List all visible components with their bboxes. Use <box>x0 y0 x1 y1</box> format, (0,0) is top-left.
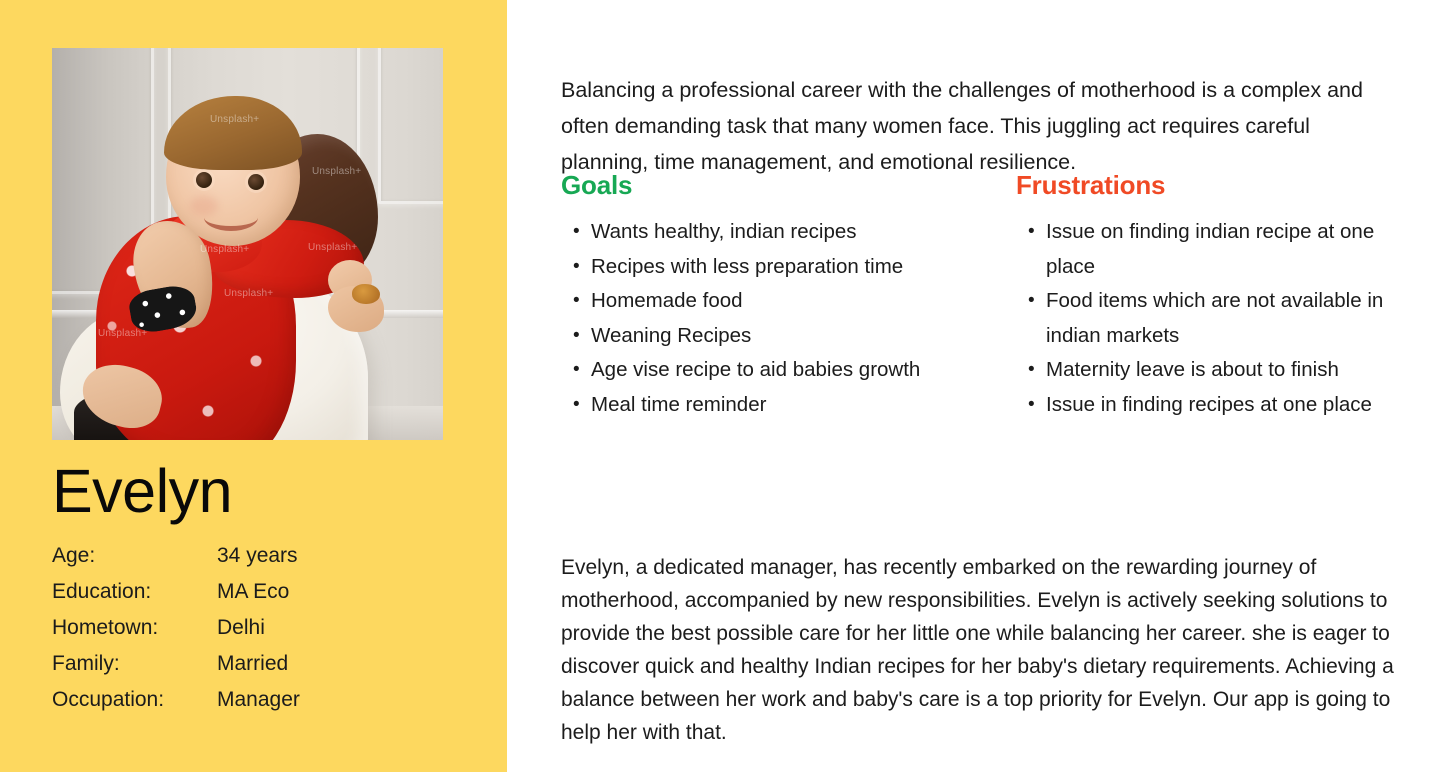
list-item: Weaning Recipes <box>591 319 1016 354</box>
list-item: Age vise recipe to aid babies growth <box>591 353 1016 388</box>
goals-section: Goals Wants healthy, indian recipes Reci… <box>561 170 1016 422</box>
detail-label-education: Education: <box>52 580 217 604</box>
detail-value-hometown: Delhi <box>217 616 265 640</box>
persona-card: Unsplash+ Unsplash+ Unsplash+ Unsplash+ … <box>0 0 1440 776</box>
detail-row: Occupation: Manager <box>52 688 452 724</box>
list-item: Issue on finding indian recipe at one pl… <box>1046 215 1411 284</box>
frustrations-heading: Frustrations <box>1016 170 1411 201</box>
detail-label-hometown: Hometown: <box>52 616 217 640</box>
detail-value-age: 34 years <box>217 544 298 568</box>
goals-frustrations-columns: Goals Wants healthy, indian recipes Reci… <box>561 170 1411 422</box>
detail-label-age: Age: <box>52 544 217 568</box>
baby-eye <box>248 174 264 190</box>
detail-row: Family: Married <box>52 652 452 688</box>
list-item: Wants healthy, indian recipes <box>591 215 1016 250</box>
wall-moulding-panel <box>378 48 443 204</box>
list-item: Issue in finding recipes at one place <box>1046 388 1411 423</box>
baby-eye <box>196 172 212 188</box>
list-item: Maternity leave is about to finish <box>1046 353 1411 388</box>
detail-row: Hometown: Delhi <box>52 616 452 652</box>
bio-paragraph: Evelyn, a dedicated manager, has recentl… <box>561 551 1399 749</box>
cookie <box>352 284 380 304</box>
list-item: Meal time reminder <box>591 388 1016 423</box>
detail-value-education: MA Eco <box>217 580 289 604</box>
profile-details-list: Age: 34 years Education: MA Eco Hometown… <box>52 544 452 724</box>
list-item: Recipes with less preparation time <box>591 250 1016 285</box>
baby-smile <box>204 204 258 231</box>
intro-paragraph: Balancing a professional career with the… <box>561 72 1399 180</box>
list-item: Homemade food <box>591 284 1016 319</box>
goals-list: Wants healthy, indian recipes Recipes wi… <box>561 215 1016 422</box>
detail-row: Education: MA Eco <box>52 580 452 616</box>
detail-label-family: Family: <box>52 652 217 676</box>
profile-panel: Unsplash+ Unsplash+ Unsplash+ Unsplash+ … <box>0 0 507 772</box>
detail-value-family: Married <box>217 652 288 676</box>
frustrations-section: Frustrations Issue on finding indian rec… <box>1016 170 1411 422</box>
goals-heading: Goals <box>561 170 1016 201</box>
detail-row: Age: 34 years <box>52 544 452 580</box>
detail-value-occupation: Manager <box>217 688 300 712</box>
list-item: Food items which are not available in in… <box>1046 284 1411 353</box>
frustrations-list: Issue on finding indian recipe at one pl… <box>1016 215 1411 422</box>
detail-label-occupation: Occupation: <box>52 688 217 712</box>
content-panel: Balancing a professional career with the… <box>507 0 1440 776</box>
persona-name: Evelyn <box>52 458 232 524</box>
profile-photo: Unsplash+ Unsplash+ Unsplash+ Unsplash+ … <box>52 48 443 440</box>
